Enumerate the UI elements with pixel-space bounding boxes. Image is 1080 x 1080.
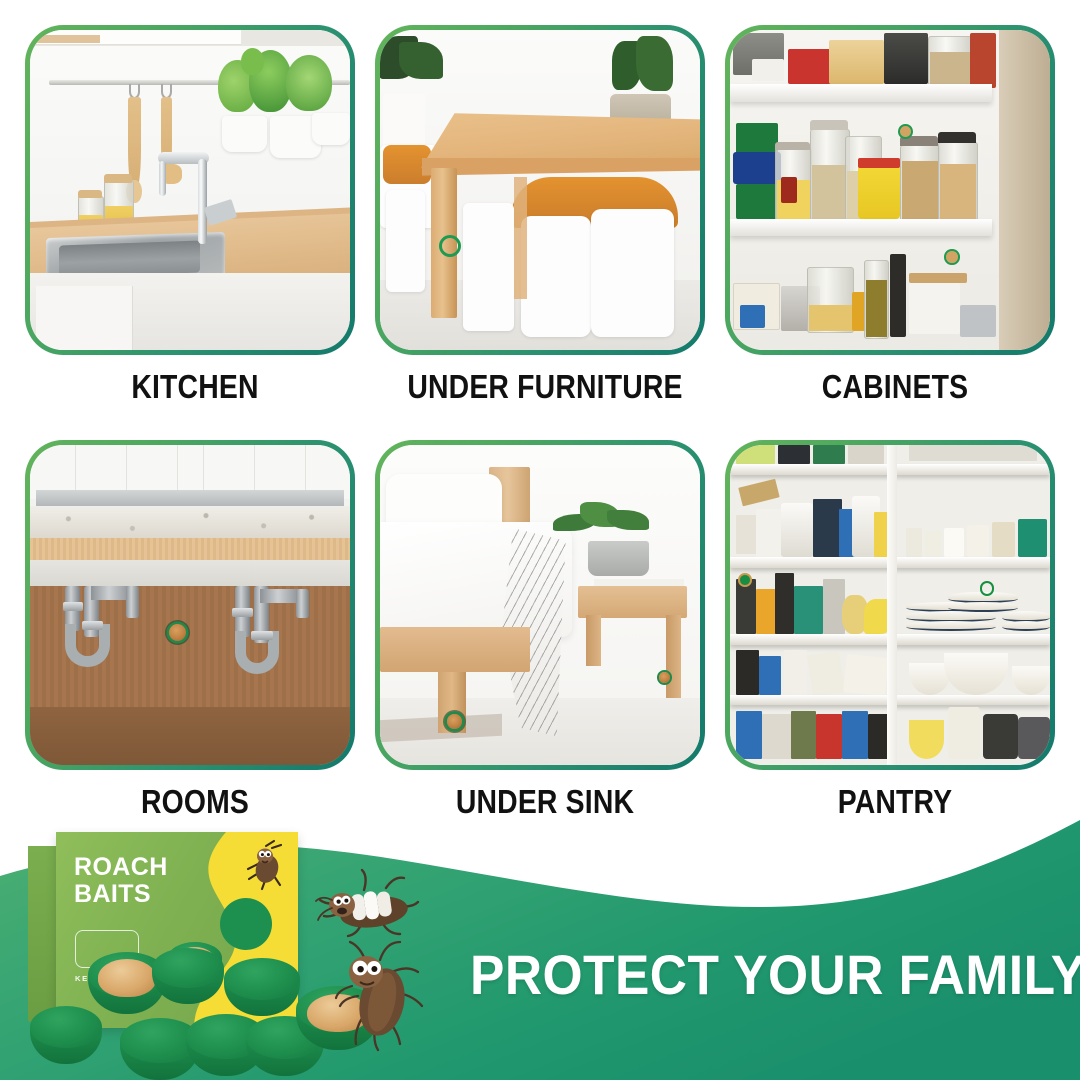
bait-marker: [738, 573, 752, 587]
tile-pantry-photo: [730, 445, 1050, 765]
tile-under-furniture[interactable]: UNDER FURNITURE: [375, 25, 715, 406]
running-roach-icon: [236, 838, 292, 900]
tile-under-furniture-frame: [375, 25, 705, 355]
tile-under-sink-photo: [380, 445, 700, 765]
bait-marker: [944, 249, 960, 265]
product-box-side: [28, 846, 58, 1032]
bait-disc: [30, 1006, 102, 1064]
tile-pantry[interactable]: PANTRY: [725, 440, 1065, 821]
bait-disc: [152, 948, 224, 1004]
feeding-roach-icon: [322, 940, 432, 1062]
bait-marker: [447, 714, 462, 729]
tile-caption: UNDER FURNITURE: [399, 368, 691, 406]
tile-kitchen-photo: [30, 30, 350, 350]
tile-under-sink[interactable]: UNDER SINK: [375, 440, 715, 821]
bait-marker: [659, 672, 670, 683]
tile-under-sink-frame: [375, 440, 705, 770]
tile-kitchen-frame: [25, 25, 355, 355]
tile-kitchen[interactable]: KITCHEN: [25, 25, 365, 406]
feature-grid: KITCHEN: [0, 0, 1080, 830]
tile-cabinets-frame: [725, 25, 1055, 355]
tile-cabinets[interactable]: CABINETS: [725, 25, 1065, 406]
tile-under-furniture-photo: [380, 30, 700, 350]
product-box-title: ROACH BAITS: [74, 854, 168, 908]
infographic-canvas: KITCHEN: [0, 0, 1080, 1080]
tile-rooms-frame: [25, 440, 355, 770]
tile-rooms[interactable]: ROOMS: [25, 440, 365, 821]
bait-marker: [439, 235, 461, 257]
tile-rooms-photo: [30, 445, 350, 765]
banner-headline: PROTECT YOUR FAMILY: [470, 942, 1022, 1007]
tile-pantry-frame: [725, 440, 1055, 770]
bait-marker: [980, 581, 995, 596]
tile-caption: KITCHEN: [49, 368, 341, 406]
tile-cabinets-photo: [730, 30, 1050, 350]
product-box-disc-large: [220, 898, 272, 950]
bait-disc: [224, 958, 300, 1016]
tile-caption: CABINETS: [749, 368, 1041, 406]
dead-roach-icon: [312, 862, 428, 948]
